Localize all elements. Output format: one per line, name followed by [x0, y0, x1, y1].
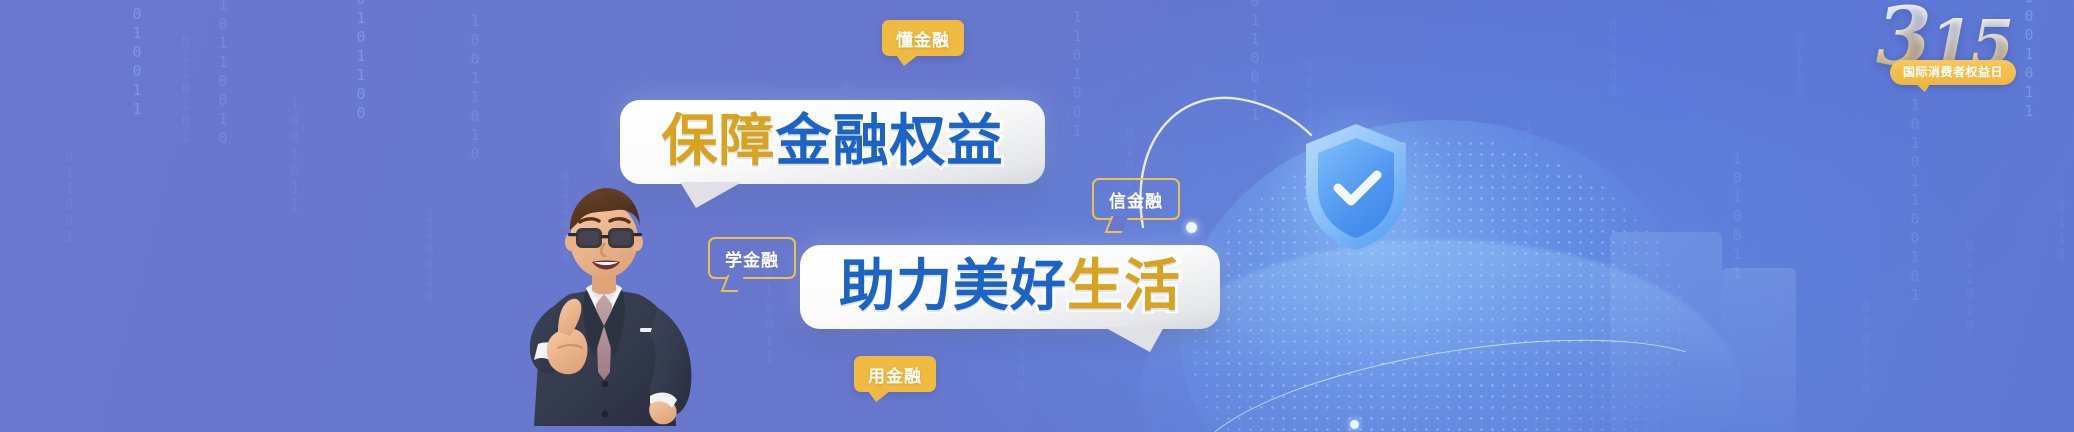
binary-column-6: 110010	[420, 210, 438, 306]
binary-column-5: 0101100	[352, 0, 370, 123]
binary-column-1: 0110101	[176, 34, 194, 146]
tag-yong-jinrong: 用金融	[854, 356, 936, 392]
315-logo: 315 国际消费者权益日	[1812, 2, 2012, 98]
mascot-businessman	[500, 176, 725, 432]
tag-dong-label: 懂金融	[896, 26, 950, 51]
shield-check-icon	[1302, 122, 1410, 252]
binary-column-18: 01100	[1604, 20, 1622, 100]
binary-column-23: 011010	[1960, 240, 1978, 336]
banner-root: 1010011011010110110010011001100101101011…	[0, 0, 2074, 432]
binary-column-20: 0110	[1790, 34, 1808, 98]
binary-column-24: 1001011	[2020, 0, 2038, 121]
headline-2-blue: 助力美好	[839, 259, 1067, 315]
arc-endpoint-icon	[1186, 222, 1197, 233]
tag-xin-label: 信金融	[1109, 187, 1163, 212]
binary-column-22: 10101100101	[1906, 96, 1924, 305]
tag-xue-jinrong: 学金融	[708, 237, 796, 279]
headline-2-gold: 生活	[1067, 259, 1181, 315]
binary-column-4: 1001011	[286, 96, 304, 215]
headline-block-1: 保障金融权益	[620, 100, 1045, 184]
binary-column-21: 010110	[1856, 300, 1874, 396]
binary-column-7: 10011010	[466, 12, 484, 164]
tag-xue-label: 学金融	[725, 246, 779, 271]
binary-column-25: 0110	[2052, 200, 2070, 264]
orbit-node-icon	[1350, 420, 1359, 429]
binary-column-0: 1010011	[128, 0, 146, 119]
315-subtitle-pill: 国际消费者权益日	[1890, 60, 2016, 85]
tag-yong-label: 用金融	[868, 362, 922, 387]
tag-xin-jinrong: 信金融	[1092, 178, 1180, 220]
315-subtitle-text: 国际消费者权益日	[1903, 65, 2003, 79]
headline-1-gold: 保障	[662, 114, 776, 170]
binary-column-2: 10110010	[214, 0, 232, 148]
binary-column-3: 011001	[60, 150, 78, 246]
tag-dong-jinrong: 懂金融	[882, 20, 964, 56]
headline-block-2: 助力美好生活	[800, 245, 1220, 329]
headline-1-blue: 金融权益	[776, 114, 1004, 170]
binary-column-12: 1101001	[1068, 8, 1086, 141]
